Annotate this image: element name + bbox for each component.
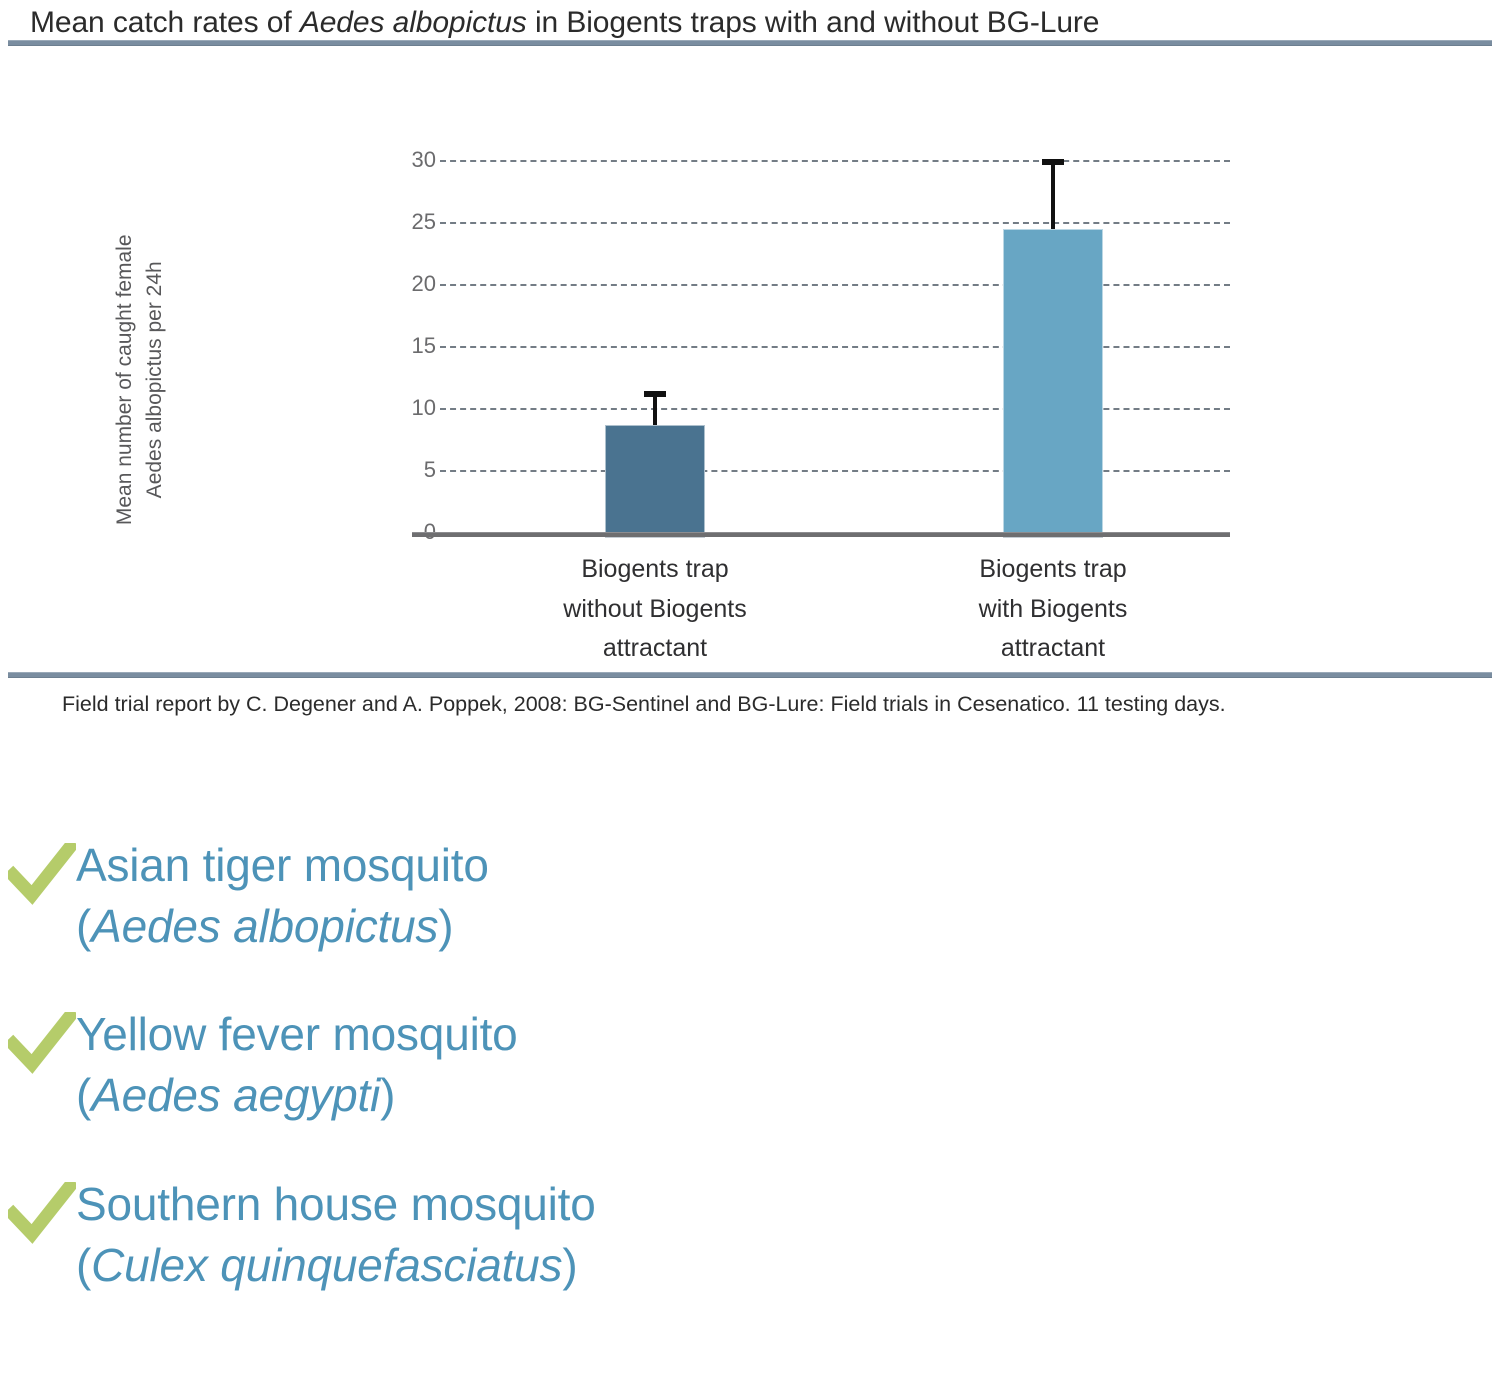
check-icon — [8, 1182, 76, 1244]
gridline-20 — [440, 284, 1230, 286]
list-item: Southern house mosquito (Culex quinquefa… — [0, 1174, 1500, 1295]
bar-chart: Mean number of caught female Aedes albop… — [0, 60, 1500, 670]
plot-area: 30 25 20 15 10 5 0 — [440, 80, 1230, 535]
scientific-name-wrap: (Aedes albopictus) — [76, 896, 489, 957]
error-bar-with — [1051, 163, 1055, 229]
common-name: Southern house mosquito — [76, 1178, 596, 1230]
scientific-name: Culex quinquefasciatus — [91, 1239, 562, 1291]
close-paren: ) — [562, 1239, 577, 1291]
y-tick-label-15: 15 — [366, 333, 436, 359]
gridline-5 — [440, 470, 1230, 472]
scientific-name: Aedes albopictus — [91, 900, 438, 952]
scientific-name-wrap: (Aedes aegypti) — [76, 1065, 518, 1126]
list-item: Yellow fever mosquito (Aedes aegypti) — [0, 1004, 1500, 1125]
y-tick-label-20: 20 — [366, 271, 436, 297]
x-label-with-line2: with Biogents — [979, 595, 1128, 623]
x-label-with-line3: attractant — [1001, 634, 1105, 662]
x-tick-label-with: Biogents trap with Biogents attractant — [893, 550, 1213, 669]
open-paren: ( — [76, 900, 91, 952]
y-tick-label-10: 10 — [366, 395, 436, 421]
scientific-name: Aedes aegypti — [91, 1069, 380, 1121]
gridline-15 — [440, 346, 1230, 348]
y-axis-title-line1: Mean number of caught female — [113, 234, 136, 525]
error-bar-without — [653, 395, 657, 425]
title-suffix: in Biogents traps with and without BG-Lu… — [527, 6, 1100, 39]
gridline-30 — [440, 160, 1230, 162]
scientific-name-wrap: (Culex quinquefasciatus) — [76, 1235, 596, 1296]
open-paren: ( — [76, 1069, 91, 1121]
x-label-without-line2: without Biogents — [563, 595, 746, 623]
x-axis-line — [412, 532, 1230, 537]
title-species-name: Aedes albopictus — [300, 6, 527, 39]
gridline-10 — [440, 408, 1230, 410]
y-tick-label-30: 30 — [366, 147, 436, 173]
y-axis-title-line2: Aedes albopictus per 24h — [143, 261, 166, 498]
error-bar-cap-without — [644, 391, 666, 397]
x-label-without-line1: Biogents trap — [581, 555, 728, 583]
check-icon — [8, 843, 76, 905]
close-paren: ) — [438, 900, 453, 952]
x-label-without-line3: attractant — [603, 634, 707, 662]
species-label: Yellow fever mosquito (Aedes aegypti) — [76, 1004, 518, 1125]
x-tick-label-without: Biogents trap without Biogents attractan… — [495, 550, 815, 669]
divider-top — [8, 40, 1492, 46]
species-checklist: Asian tiger mosquito (Aedes albopictus) … — [0, 835, 1500, 1343]
chart-source-caption: Field trial report by C. Degener and A. … — [62, 692, 1226, 717]
species-label: Southern house mosquito (Culex quinquefa… — [76, 1174, 596, 1295]
y-tick-label-25: 25 — [366, 209, 436, 235]
divider-bottom — [8, 672, 1492, 678]
common-name: Asian tiger mosquito — [76, 839, 489, 891]
open-paren: ( — [76, 1239, 91, 1291]
bar-without-attractant[interactable] — [605, 425, 705, 535]
close-paren: ) — [380, 1069, 395, 1121]
species-label: Asian tiger mosquito (Aedes albopictus) — [76, 835, 489, 956]
slide-root: Mean catch rates of Aedes albopictus in … — [0, 0, 1500, 1390]
title-prefix: Mean catch rates of — [30, 6, 300, 39]
x-label-with-line1: Biogents trap — [979, 555, 1126, 583]
y-tick-label-5: 5 — [366, 457, 436, 483]
error-bar-cap-with — [1042, 159, 1064, 165]
page-title: Mean catch rates of Aedes albopictus in … — [30, 6, 1480, 40]
common-name: Yellow fever mosquito — [76, 1008, 518, 1060]
y-axis-title: Mean number of caught female Aedes albop… — [110, 140, 170, 620]
gridline-25 — [440, 222, 1230, 224]
list-item: Asian tiger mosquito (Aedes albopictus) — [0, 835, 1500, 956]
check-icon — [8, 1012, 76, 1074]
bar-with-attractant[interactable] — [1003, 229, 1103, 535]
